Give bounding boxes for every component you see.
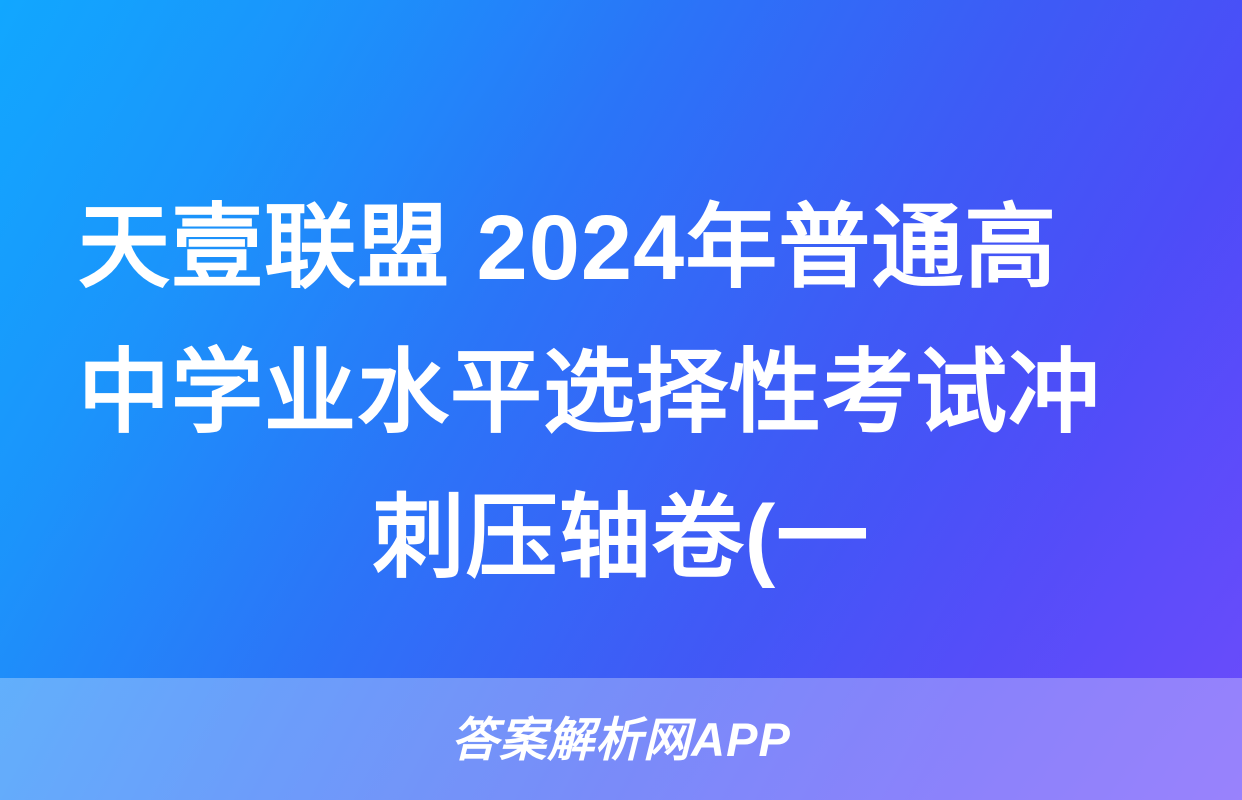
title-line-2: 中学业水平选择性考试冲 bbox=[78, 321, 1164, 466]
promo-banner: 天壹联盟 2024年普通高 中学业水平选择性考试冲 刺压轴卷(一 答案解析网AP… bbox=[0, 0, 1242, 800]
title-line-1: 天壹联盟 2024年普通高 bbox=[78, 176, 1164, 321]
page-title: 天壹联盟 2024年普通高 中学业水平选择性考试冲 刺压轴卷(一 bbox=[0, 176, 1242, 611]
footer-band: 答案解析网APP bbox=[0, 678, 1242, 800]
app-watermark-label: 答案解析网APP bbox=[451, 716, 791, 763]
title-line-3: 刺压轴卷(一 bbox=[78, 466, 1164, 611]
